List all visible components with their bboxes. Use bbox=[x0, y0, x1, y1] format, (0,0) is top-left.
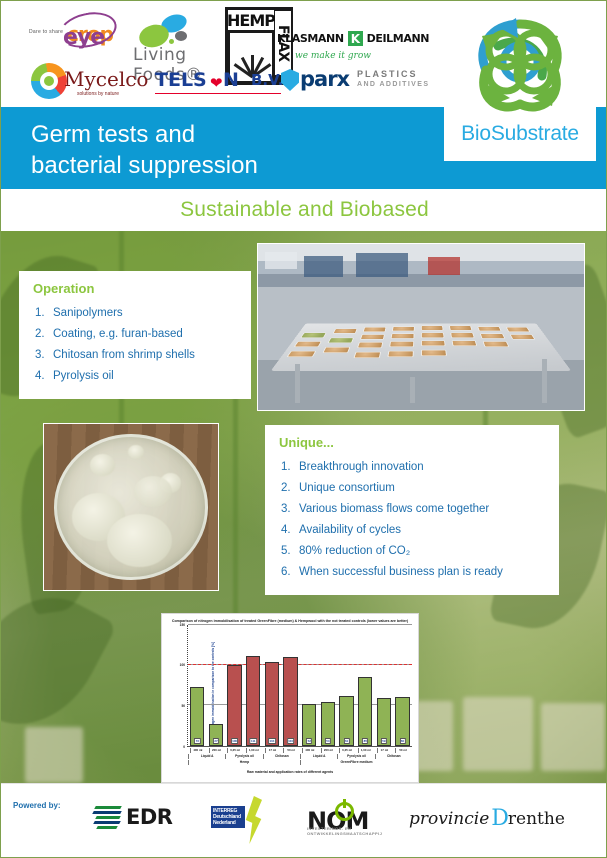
drenthe-d-initial: D bbox=[491, 806, 509, 831]
logo-telson: TELS ❤ N B.V. bbox=[155, 67, 285, 101]
chart-agent-group: Liquid A bbox=[300, 754, 337, 759]
chart-bar-value: 52 bbox=[306, 738, 312, 744]
chart-bar: 59 bbox=[377, 698, 391, 746]
chart-bars: 7327100111104110525461855960 bbox=[188, 625, 412, 746]
petri-dish bbox=[54, 434, 207, 580]
page-title: Germ tests and bacterial suppression bbox=[31, 119, 451, 181]
chart-y-tick: 0 bbox=[183, 745, 185, 749]
interreg-wordmark: INTERREG Deutschland Nederland bbox=[211, 806, 245, 828]
list-item: Chitosan from shrimp shells bbox=[33, 345, 239, 366]
chart-y-tick: 150 bbox=[180, 623, 185, 627]
cropeye-tagline: Dare to share bbox=[29, 29, 63, 35]
chart-y-tick: 50 bbox=[181, 704, 185, 708]
logo-provincie-drenthe: provincie D renthe bbox=[409, 806, 565, 831]
chart-material-group: GreenFibre medium bbox=[300, 760, 412, 766]
main-content-area: Operation Sanipolymers Coating, e.g. fur… bbox=[1, 231, 607, 783]
operation-list: Sanipolymers Coating, e.g. furan-based C… bbox=[33, 303, 239, 387]
chart-bar-value: 27 bbox=[213, 738, 219, 744]
living-foods-dot-icon bbox=[169, 39, 174, 44]
chart-y-ticks: 050100150 bbox=[177, 625, 188, 747]
list-item: Breakthrough innovation bbox=[279, 457, 547, 478]
chart-bar: 104 bbox=[265, 662, 279, 746]
interreg-bolt-icon bbox=[244, 796, 262, 844]
chart-bar: 73 bbox=[190, 687, 204, 746]
chart-bar-wrapper: 111 bbox=[246, 625, 260, 746]
tagline-band: Sustainable and Biobased bbox=[1, 189, 607, 231]
chart-x-tick: 17 ml bbox=[377, 748, 391, 753]
chart-bar-value: 111 bbox=[250, 738, 258, 744]
poster-root: crop eye Dare to share Living Foods® HEM… bbox=[0, 0, 607, 858]
chart-bar-wrapper: 85 bbox=[358, 625, 372, 746]
telson-wordmark: TELS bbox=[155, 69, 207, 91]
drenthe-renthe-text: renthe bbox=[508, 809, 565, 829]
chart-bars-region: 7327100111104110525461855960 bbox=[188, 625, 412, 747]
chart-bar-value: 61 bbox=[343, 738, 349, 744]
photo-tray-experiment bbox=[257, 243, 585, 411]
cropeye-eye-text: eye bbox=[63, 25, 104, 50]
chart-bar-value: 100 bbox=[231, 738, 239, 744]
tagline-text: Sustainable and Biobased bbox=[180, 198, 429, 222]
mycelco-dot-icon bbox=[44, 76, 54, 86]
chart-x-axis-label: Raw material and application rates of di… bbox=[168, 770, 412, 774]
chart-bar-wrapper: 27 bbox=[209, 625, 223, 746]
chart-x-tick: 200 ml bbox=[321, 748, 335, 753]
klasmann-left-text: KLASMANN bbox=[277, 32, 344, 45]
chart-bar: 52 bbox=[302, 704, 316, 746]
chart-bar-value: 59 bbox=[381, 738, 387, 744]
chart-bar: 54 bbox=[321, 702, 335, 746]
klasmann-k-mark-icon: K bbox=[348, 31, 363, 46]
chart-bar-wrapper: 61 bbox=[339, 625, 353, 746]
chart-bar: 85 bbox=[358, 677, 372, 746]
living-foods-grey-blob-icon bbox=[175, 31, 187, 41]
chart-agent-group: Chitosan bbox=[375, 754, 412, 759]
chart-agent-group: Pyrolysis oil bbox=[337, 754, 374, 759]
chart-agent-group: Pyrolysis oil bbox=[225, 754, 262, 759]
list-item: When successful business plan is ready bbox=[279, 562, 547, 583]
chart-x-tick: 0,25 ml bbox=[227, 748, 241, 753]
chart-bar-wrapper: 110 bbox=[283, 625, 297, 746]
card-unique: Unique... Breakthrough innovation Unique… bbox=[265, 425, 559, 595]
chart-y-tick: 100 bbox=[180, 663, 185, 667]
chart-x-tick: 0,25 ml bbox=[339, 748, 353, 753]
list-item: Sanipolymers bbox=[33, 303, 239, 324]
page-title-line2: bacterial suppression bbox=[31, 150, 451, 181]
chart-plot-area: Nitrogen immobilisation in comparison to… bbox=[168, 625, 412, 747]
list-item: Availability of cycles bbox=[279, 520, 547, 541]
parx-subtitle-additives: AND ADDITIVES bbox=[357, 81, 429, 88]
chart-bar: 110 bbox=[283, 657, 297, 746]
list-item: 80% reduction of CO₂ bbox=[279, 541, 547, 562]
chart-bar: 27 bbox=[209, 724, 223, 746]
chart-bar-value: 73 bbox=[194, 738, 200, 744]
telson-wordmark-rest: N bbox=[223, 69, 239, 91]
card-operation: Operation Sanipolymers Coating, e.g. fur… bbox=[19, 271, 251, 399]
chart-bar: 61 bbox=[339, 696, 353, 745]
chart-material-groups: HempGreenFibre medium bbox=[188, 760, 412, 766]
chart-x-tick: 400 ml bbox=[190, 748, 204, 753]
logo-edr: EDR bbox=[93, 804, 172, 830]
chart-x-tick: 1,00 ml bbox=[358, 748, 372, 753]
telson-bv-text: B.V. bbox=[251, 71, 284, 89]
chart-bar-value: 110 bbox=[287, 738, 295, 744]
chart-bar-wrapper: 59 bbox=[377, 625, 391, 746]
edr-stripes-icon bbox=[93, 804, 123, 830]
klasmann-right-text: DEILMANN bbox=[367, 32, 429, 45]
drenthe-provincie-text: provincie bbox=[409, 809, 489, 829]
chart-x-tick: 50 ml bbox=[395, 748, 409, 753]
chart-bar: 100 bbox=[227, 665, 241, 746]
unique-title: Unique... bbox=[279, 435, 547, 450]
chart-x-tick: 200 ml bbox=[209, 748, 223, 753]
chart-bar: 60 bbox=[395, 697, 409, 745]
chart-agent-group: Chitosan bbox=[263, 754, 300, 759]
hempflax-hemp-text: HEMP bbox=[228, 10, 274, 30]
chart-x-tick: 400 ml bbox=[302, 748, 316, 753]
parx-shield-icon bbox=[281, 69, 299, 91]
chart-bar-wrapper: 60 bbox=[395, 625, 409, 746]
chart-bar-wrapper: 73 bbox=[190, 625, 204, 746]
chart-material-group: Hemp bbox=[188, 760, 300, 766]
chart-bar-value: 85 bbox=[362, 738, 368, 744]
chart-bar-wrapper: 100 bbox=[227, 625, 241, 746]
chart-bar-wrapper: 54 bbox=[321, 625, 335, 746]
operation-title: Operation bbox=[33, 281, 239, 296]
chart-bar-wrapper: 52 bbox=[302, 625, 316, 746]
table-legs bbox=[284, 347, 558, 403]
chart-x-tick: 1,00 ml bbox=[246, 748, 260, 753]
biosubstrate-wordmark: BioSubstrate bbox=[461, 122, 579, 146]
telson-heart-icon: ❤ bbox=[210, 74, 223, 92]
logo-parx: parx PLASTICS AND ADDITIVES bbox=[281, 65, 431, 101]
parx-subtitle-plastics: PLASTICS bbox=[357, 69, 418, 79]
powered-by-label: Powered by: bbox=[13, 801, 61, 810]
logo-mycelco: Mycelco solutions by nature bbox=[31, 61, 159, 107]
nom-power-icon bbox=[343, 799, 346, 808]
chart-card: Comparison of nitrogen immobilisation of… bbox=[161, 613, 419, 783]
chart-y-axis-label: Nitrogen immobilisation in comparison to… bbox=[168, 625, 177, 747]
footer: Powered by: EDR INTERREG Deutschland Ned… bbox=[1, 783, 607, 857]
chart-agent-groups: Liquid APyrolysis oilChitosanLiquid APyr… bbox=[188, 754, 412, 759]
lab-background bbox=[258, 244, 584, 287]
list-item: Unique consortium bbox=[279, 478, 547, 499]
nom-subtitle: INVESTERINGS- EN ONTWIKKELINGSMAATSCHAPP… bbox=[307, 826, 389, 836]
chart-bar-value: 104 bbox=[268, 738, 276, 744]
chart-x-tick: 17 ml bbox=[265, 748, 279, 753]
list-item: Pyrolysis oil bbox=[33, 366, 239, 387]
biosubstrate-recycling-flower-icon bbox=[459, 6, 581, 122]
unique-list: Breakthrough innovation Unique consortiu… bbox=[279, 457, 547, 583]
mycelco-wordmark: Mycelco bbox=[64, 67, 148, 91]
mycelco-tagline: solutions by nature bbox=[77, 91, 119, 97]
chart-bar: 111 bbox=[246, 656, 260, 746]
list-item: Various biomass flows come together bbox=[279, 499, 547, 520]
page-title-line1: Germ tests and bbox=[31, 119, 451, 150]
klasmann-slogan: we make it grow bbox=[295, 51, 371, 61]
parx-wordmark: parx bbox=[300, 67, 349, 91]
chart-x-tick-labels: 400 ml200 ml0,25 ml1,00 ml17 ml50 ml400 … bbox=[188, 748, 412, 753]
chart-agent-group: Liquid A bbox=[188, 754, 225, 759]
telson-underline bbox=[155, 93, 281, 94]
edr-wordmark: EDR bbox=[126, 805, 172, 829]
logo-interreg: INTERREG Deutschland Nederland bbox=[211, 796, 269, 846]
photo-petri-dish bbox=[43, 423, 219, 591]
chart-x-tick: 50 ml bbox=[283, 748, 297, 753]
logo-nom: NOM INVESTERINGS- EN ONTWIKKELINGSMAATSC… bbox=[307, 798, 389, 844]
list-item: Coating, e.g. furan-based bbox=[33, 324, 239, 345]
chart-bar-value: 54 bbox=[325, 738, 331, 744]
biosubstrate-logo-block: BioSubstrate bbox=[444, 4, 596, 161]
chart-bar-wrapper: 104 bbox=[265, 625, 279, 746]
chart-bar-value: 60 bbox=[399, 738, 405, 744]
